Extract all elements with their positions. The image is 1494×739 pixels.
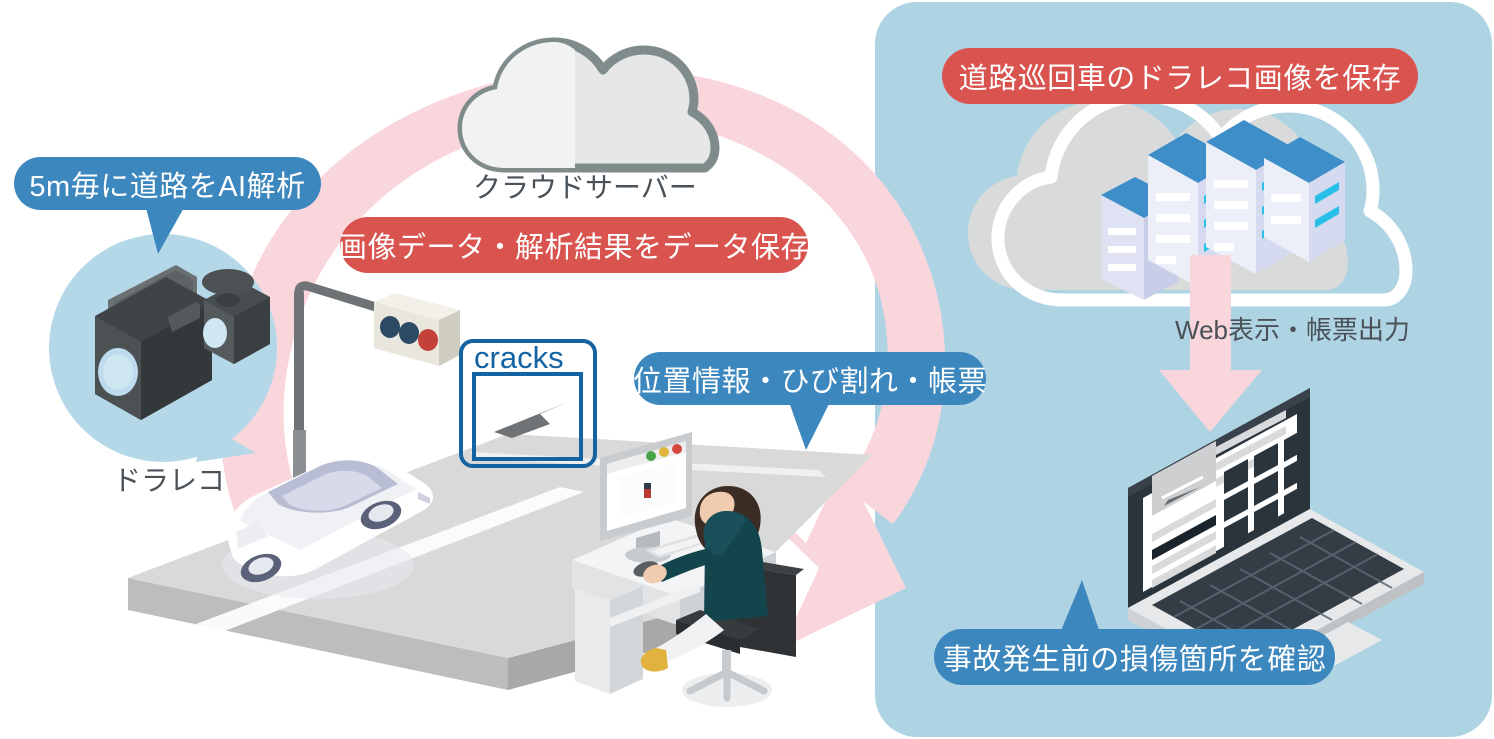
location-bubble-tail xyxy=(789,402,830,450)
cloud-server-label: クラウドサーバー xyxy=(473,166,697,206)
location-crack-report-pill[interactable]: 位置情報・ひび割れ・帳票 xyxy=(634,352,986,405)
dashcam-label: ドラレコ xyxy=(113,459,225,499)
web-display-output-label: Web表示・帳票出力 xyxy=(1175,310,1410,347)
location-crack-report-label: 位置情報・ひび割れ・帳票 xyxy=(633,358,987,400)
ai-analysis-label: 5m毎に道路をAI解析 xyxy=(29,163,305,205)
diagram-canvas: cracks 5m毎に道路をAI解析 画像データ・解析結果をデータ保存 位置情報… xyxy=(0,0,1494,739)
store-data-label: 画像データ・解析結果をデータ保存 xyxy=(338,224,810,266)
check-damage-pill[interactable]: 事故発生前の損傷箇所を確認 xyxy=(934,629,1335,685)
save-patrol-images-label: 道路巡回車のドラレコ画像を保存 xyxy=(959,55,1402,97)
check-damage-label: 事故発生前の損傷箇所を確認 xyxy=(943,636,1327,678)
ai-analysis-pill[interactable]: 5m毎に道路をAI解析 xyxy=(14,157,321,210)
store-data-pill[interactable]: 画像データ・解析結果をデータ保存 xyxy=(340,217,808,273)
save-patrol-images-pill[interactable]: 道路巡回車のドラレコ画像を保存 xyxy=(942,48,1418,104)
check-damage-bubble-tail xyxy=(1060,580,1100,633)
ai-analysis-bubble-tail xyxy=(145,204,186,254)
